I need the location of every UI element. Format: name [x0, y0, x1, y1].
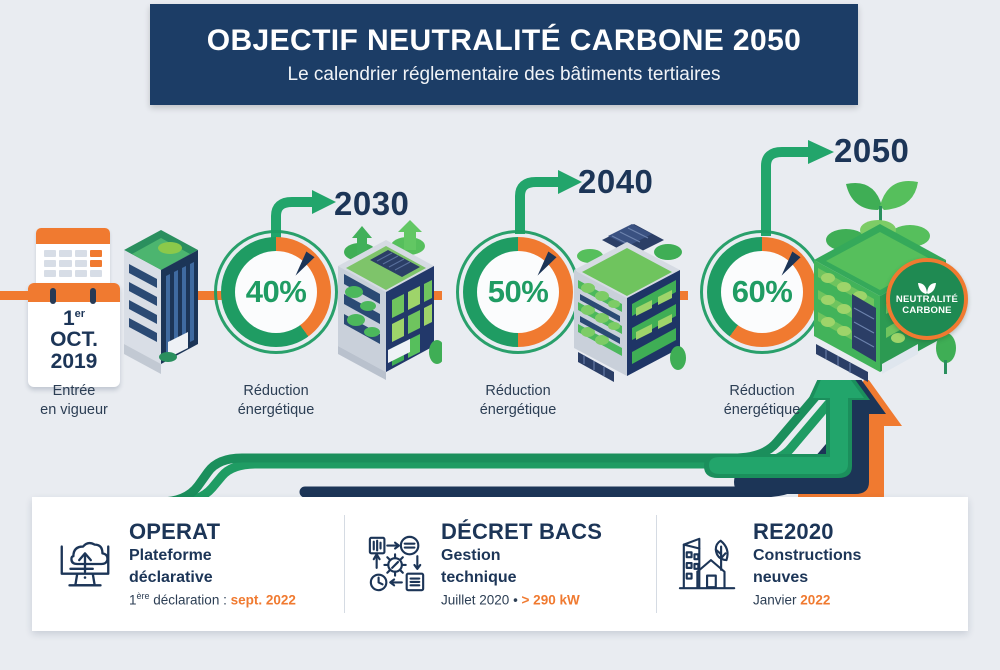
regulations-panel: OPERAT Plateforme déclarative 1ère décla…	[32, 497, 968, 631]
gauge-value-2050: 60%	[732, 274, 793, 310]
gauge-caption-2040: Réduction énergétique	[443, 382, 593, 419]
year-label-2040: 2040	[578, 163, 653, 201]
gauge-caption-2050: Réduction énergétique	[687, 382, 837, 419]
leaf-icon	[917, 281, 937, 295]
card-subtitle-2: technique	[441, 569, 602, 588]
timeline-connector	[0, 291, 36, 300]
gauge-value-2040: 50%	[488, 274, 549, 310]
badge-line-2: CARBONE	[902, 306, 951, 317]
regulation-card-operat[interactable]: OPERAT Plateforme déclarative 1ère décla…	[32, 497, 344, 631]
start-year: 2019	[28, 351, 120, 373]
card-title: RE2020	[753, 520, 861, 544]
page-title: OBJECTIF NEUTRALITÉ CARBONE 2050	[207, 24, 802, 57]
gauge-caption-2030: Réduction énergétique	[201, 382, 351, 419]
gauge-value-2030: 40%	[246, 274, 307, 310]
start-caption: Entrée en vigueur	[0, 382, 149, 419]
regulation-card-decret-bacs[interactable]: DÉCRET BACS Gestion technique Juillet 20…	[344, 497, 656, 631]
building-2019-icon	[112, 224, 210, 382]
card-subtitle-1: Constructions	[753, 547, 861, 566]
cloud-upload-monitor-icon	[54, 533, 116, 595]
page-subtitle: Le calendrier réglementaire des bâtiment…	[288, 64, 721, 86]
building-leaf-icon	[678, 533, 740, 595]
card-subtitle-1: Plateforme	[129, 547, 296, 566]
card-detail-highlight: sept. 2022	[231, 593, 296, 608]
card-subtitle-2: déclarative	[129, 569, 296, 588]
card-subtitle-2: neuves	[753, 569, 861, 588]
start-month: OCT.	[28, 329, 120, 351]
building-2030-icon	[330, 212, 442, 380]
card-detail: 1ère déclaration : sept. 2022	[129, 591, 296, 608]
building-2040-icon	[568, 212, 686, 384]
year-label-2050: 2050	[834, 132, 909, 170]
gauge-2040: 50%	[456, 230, 580, 354]
card-detail: Janvier 2022	[753, 591, 861, 608]
card-title: DÉCRET BACS	[441, 520, 602, 544]
start-day: 1er	[28, 308, 120, 329]
card-detail-highlight: > 290 kW	[522, 593, 580, 608]
carbon-neutrality-badge: NEUTRALITÉ CARBONE	[886, 258, 968, 340]
gauge-2030: 40%	[214, 230, 338, 354]
card-subtitle-1: Gestion	[441, 547, 602, 566]
card-detail: Juillet 2020 • > 290 kW	[441, 591, 602, 608]
card-title: OPERAT	[129, 520, 296, 544]
card-detail-highlight: 2022	[800, 593, 830, 608]
header-banner: OBJECTIF NEUTRALITÉ CARBONE 2050 Le cale…	[150, 4, 858, 105]
regulation-card-re2020[interactable]: RE2020 Constructions neuves Janvier 2022	[656, 497, 968, 631]
gear-automation-icon	[366, 533, 428, 595]
infographic-canvas: OBJECTIF NEUTRALITÉ CARBONE 2050 Le cale…	[0, 0, 1000, 670]
